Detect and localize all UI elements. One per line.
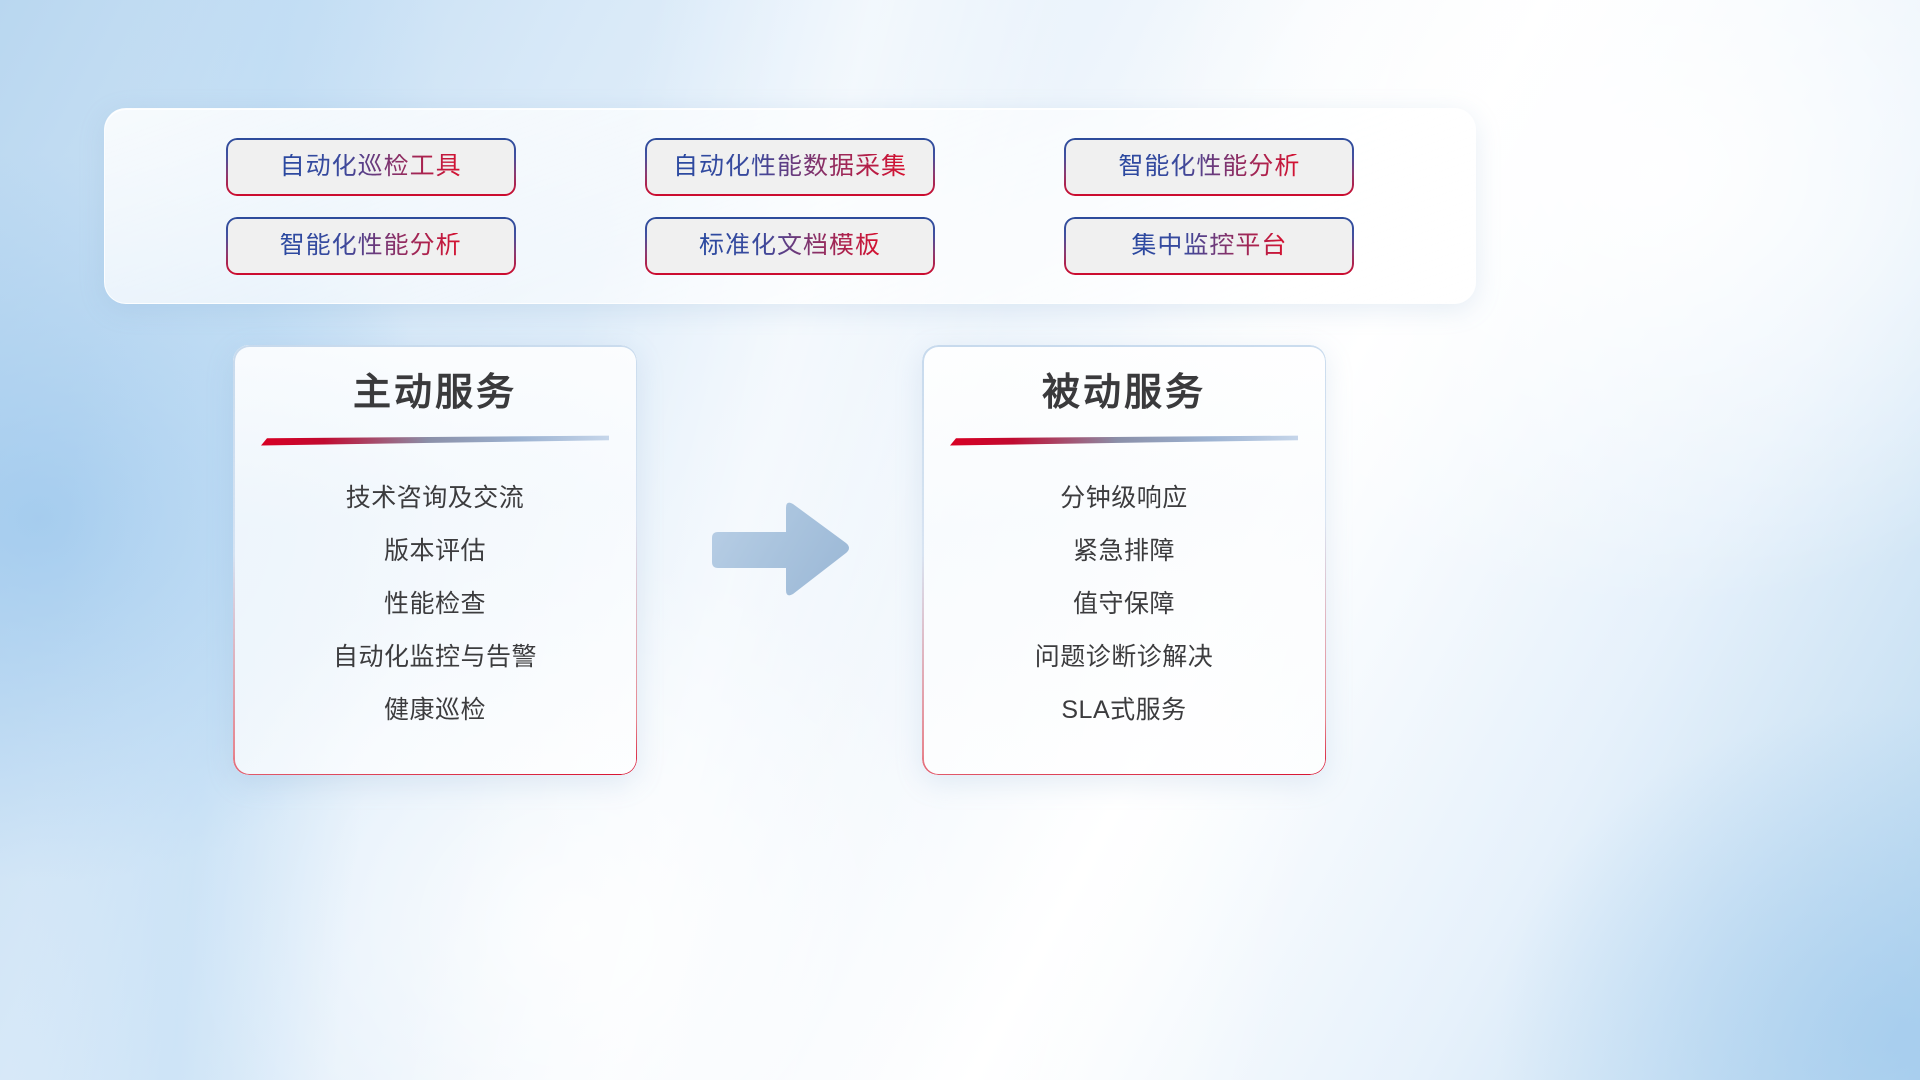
service-item[interactable]: 值守保障: [922, 578, 1326, 631]
card-divider: [950, 435, 1298, 446]
service-item-list: 分钟级响应 紧急排障 值守保障 问题诊断诊解决 SLA式服务: [922, 472, 1326, 737]
service-item[interactable]: 技术咨询及交流: [233, 472, 637, 525]
service-item[interactable]: 问题诊断诊解决: [922, 631, 1326, 684]
service-item[interactable]: 健康巡检: [233, 684, 637, 737]
card-divider: [261, 435, 609, 446]
service-item[interactable]: 版本评估: [233, 525, 637, 578]
capability-tag[interactable]: 自动化巡检工具: [226, 138, 516, 196]
capability-tag[interactable]: 自动化性能数据采集: [645, 138, 935, 196]
capability-tag[interactable]: 集中监控平台: [1064, 217, 1354, 275]
arrow-right-icon: [712, 498, 852, 602]
card-title: 被动服务: [922, 371, 1326, 417]
service-card-passive: 被动服务 分钟级响应 紧急排障 值守保障 问题诊断诊解决 SLA式服务: [922, 345, 1326, 775]
service-item[interactable]: 自动化监控与告警: [233, 631, 637, 684]
capability-tag[interactable]: 智能化性能分析: [226, 217, 516, 275]
service-item[interactable]: 分钟级响应: [922, 472, 1326, 525]
capability-tag-label: 自动化性能数据采集: [673, 154, 907, 179]
capability-tag-label: 自动化巡检工具: [280, 154, 462, 179]
service-item[interactable]: 紧急排障: [922, 525, 1326, 578]
service-item-list: 技术咨询及交流 版本评估 性能检查 自动化监控与告警 健康巡检: [233, 472, 637, 737]
service-card-active: 主动服务 技术咨询及交流 版本评估 性能检查 自动化监控与告警 健康巡检: [233, 345, 637, 775]
capability-tag-label: 智能化性能分析: [1118, 154, 1300, 179]
card-title: 主动服务: [233, 371, 637, 417]
capability-tag[interactable]: 智能化性能分析: [1064, 138, 1354, 196]
capability-tag-panel: 自动化巡检工具 自动化性能数据采集 智能化性能分析 智能化性能分析 标准化文档模…: [104, 108, 1476, 304]
service-item[interactable]: 性能检查: [233, 578, 637, 631]
capability-tag-label: 智能化性能分析: [280, 233, 462, 258]
capability-tag-label: 标准化文档模板: [699, 233, 881, 258]
capability-tag[interactable]: 标准化文档模板: [645, 217, 935, 275]
capability-tag-label: 集中监控平台: [1131, 233, 1287, 258]
service-item[interactable]: SLA式服务: [922, 684, 1326, 737]
